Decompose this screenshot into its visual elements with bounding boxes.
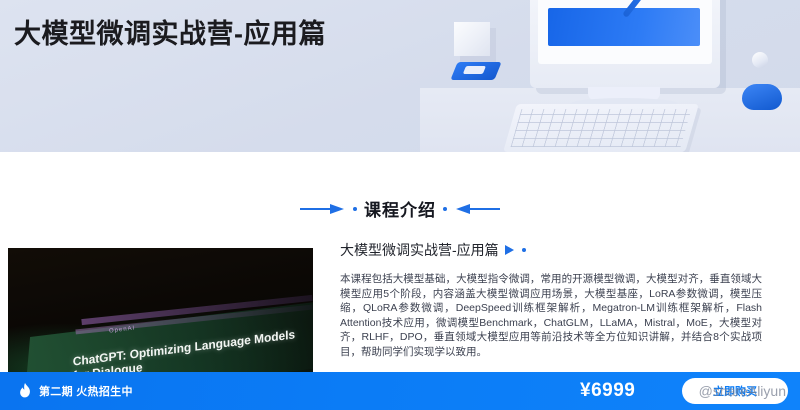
bottom-action-bar: 第二期 火热招生中 ¥6999 立即购买 @shareAliyun — [0, 372, 800, 410]
decoration-dot — [443, 207, 447, 211]
course-description: 本课程包括大模型基础，大模型指令微调，常用的开源模型微调，大模型对齐，垂直领域大… — [340, 272, 762, 360]
monitor-icon — [530, 0, 720, 88]
course-title: 大模型微调实战营-应用篇 — [340, 240, 499, 260]
play-triangle-icon — [505, 245, 516, 255]
desktop-computer-3d-illustration — [420, 0, 800, 152]
sphere-shape — [752, 52, 768, 68]
section-title: 课程介绍 — [364, 196, 436, 221]
keyboard-icon — [503, 104, 699, 152]
promo-text: 第二期 火热招生中 — [39, 383, 133, 399]
section-heading: 课程介绍 — [0, 196, 800, 221]
flame-icon — [18, 383, 32, 399]
decoration-dot — [522, 248, 526, 252]
promo-group: 第二期 火热招生中 — [18, 383, 133, 399]
course-price: ¥6999 — [580, 380, 635, 402]
keyboard-keys — [511, 109, 692, 147]
course-landing-page: 大模型微调实战营-应用篇 — [0, 0, 800, 410]
page-title: 大模型微调实战营-应用篇 — [14, 12, 326, 51]
blue-tray-shape — [450, 62, 501, 80]
arrow-right-icon — [300, 203, 346, 215]
buy-now-button[interactable]: 立即购买 — [682, 378, 788, 404]
cube-shape — [454, 22, 490, 56]
course-title-row: 大模型微调实战营-应用篇 — [340, 240, 770, 260]
course-detail: 大模型微调实战营-应用篇 本课程包括大模型基础，大模型指令微调，常用的开源模型微… — [340, 240, 770, 360]
arrow-left-icon — [454, 203, 500, 215]
mouse-icon — [742, 84, 782, 110]
hero-banner: 大模型微调实战营-应用篇 — [0, 0, 800, 152]
course-thumbnail[interactable]: OpenAI ChatGPT: Optimizing Language Mode… — [8, 248, 313, 380]
decoration-dot — [353, 207, 357, 211]
